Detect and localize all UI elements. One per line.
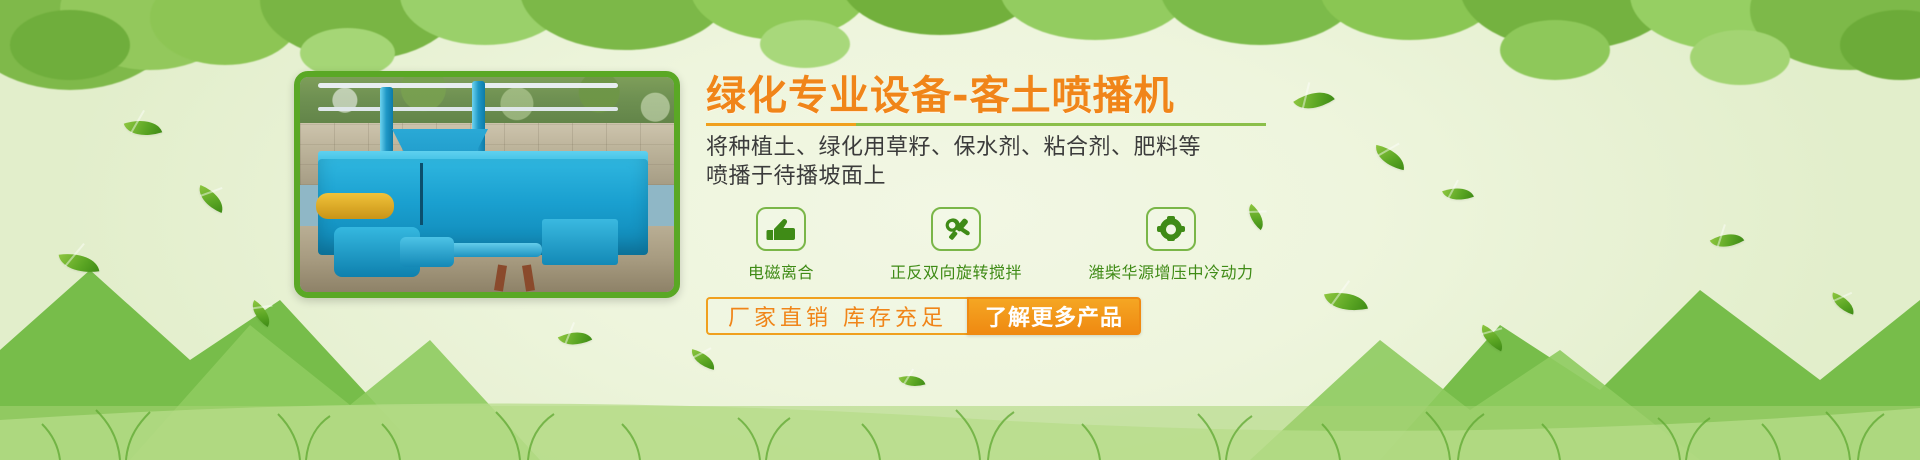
promo-label: 厂家直销 库存充足	[706, 297, 967, 335]
learn-more-button[interactable]: 了解更多产品	[967, 297, 1141, 335]
engine-gear-icon	[1146, 207, 1196, 251]
title-divider	[706, 123, 1266, 126]
subtitle-line-1: 将种植土、绿化用草籽、保水剂、粘合剂、肥料等	[706, 133, 1326, 162]
banner-copy: 绿化专业设备-客土喷播机 将种植土、绿化用草籽、保水剂、粘合剂、肥料等 喷播于待…	[706, 72, 1326, 335]
leaf-decoration	[1372, 145, 1407, 170]
product-photo[interactable]	[294, 71, 680, 298]
feature-label-3: 潍柴华源增压中冷动力	[1056, 259, 1286, 283]
product-banner: 绿化专业设备-客土喷播机 将种植土、绿化用草籽、保水剂、粘合剂、肥料等 喷播于待…	[0, 0, 1920, 460]
subtitle-line-2: 喷播于待播坡面上	[706, 162, 1326, 191]
wrench-screwdriver-icon	[931, 207, 981, 251]
subtitle-block: 将种植土、绿化用草籽、保水剂、粘合剂、肥料等 喷播于待播坡面上	[706, 133, 1326, 191]
page-title: 绿化专业设备-客土喷播机	[706, 72, 1326, 120]
cta-button-group: 厂家直销 库存充足 了解更多产品	[706, 297, 1326, 335]
feature-label-1: 电磁离合	[706, 259, 856, 283]
feature-item-1[interactable]: 电磁离合	[706, 207, 856, 283]
feature-item-2[interactable]: 正反双向旋转搅拌	[856, 207, 1056, 283]
leaf-decoration	[1442, 182, 1474, 207]
leaf-decoration	[194, 185, 229, 213]
feature-list: 电磁离合 正反双向旋转搅拌	[706, 207, 1326, 283]
grass-decoration	[0, 340, 1920, 460]
feature-item-3[interactable]: 潍柴华源增压中冷动力	[1056, 207, 1286, 283]
feature-label-2: 正反双向旋转搅拌	[856, 259, 1056, 283]
thumbs-up-icon	[756, 207, 806, 251]
